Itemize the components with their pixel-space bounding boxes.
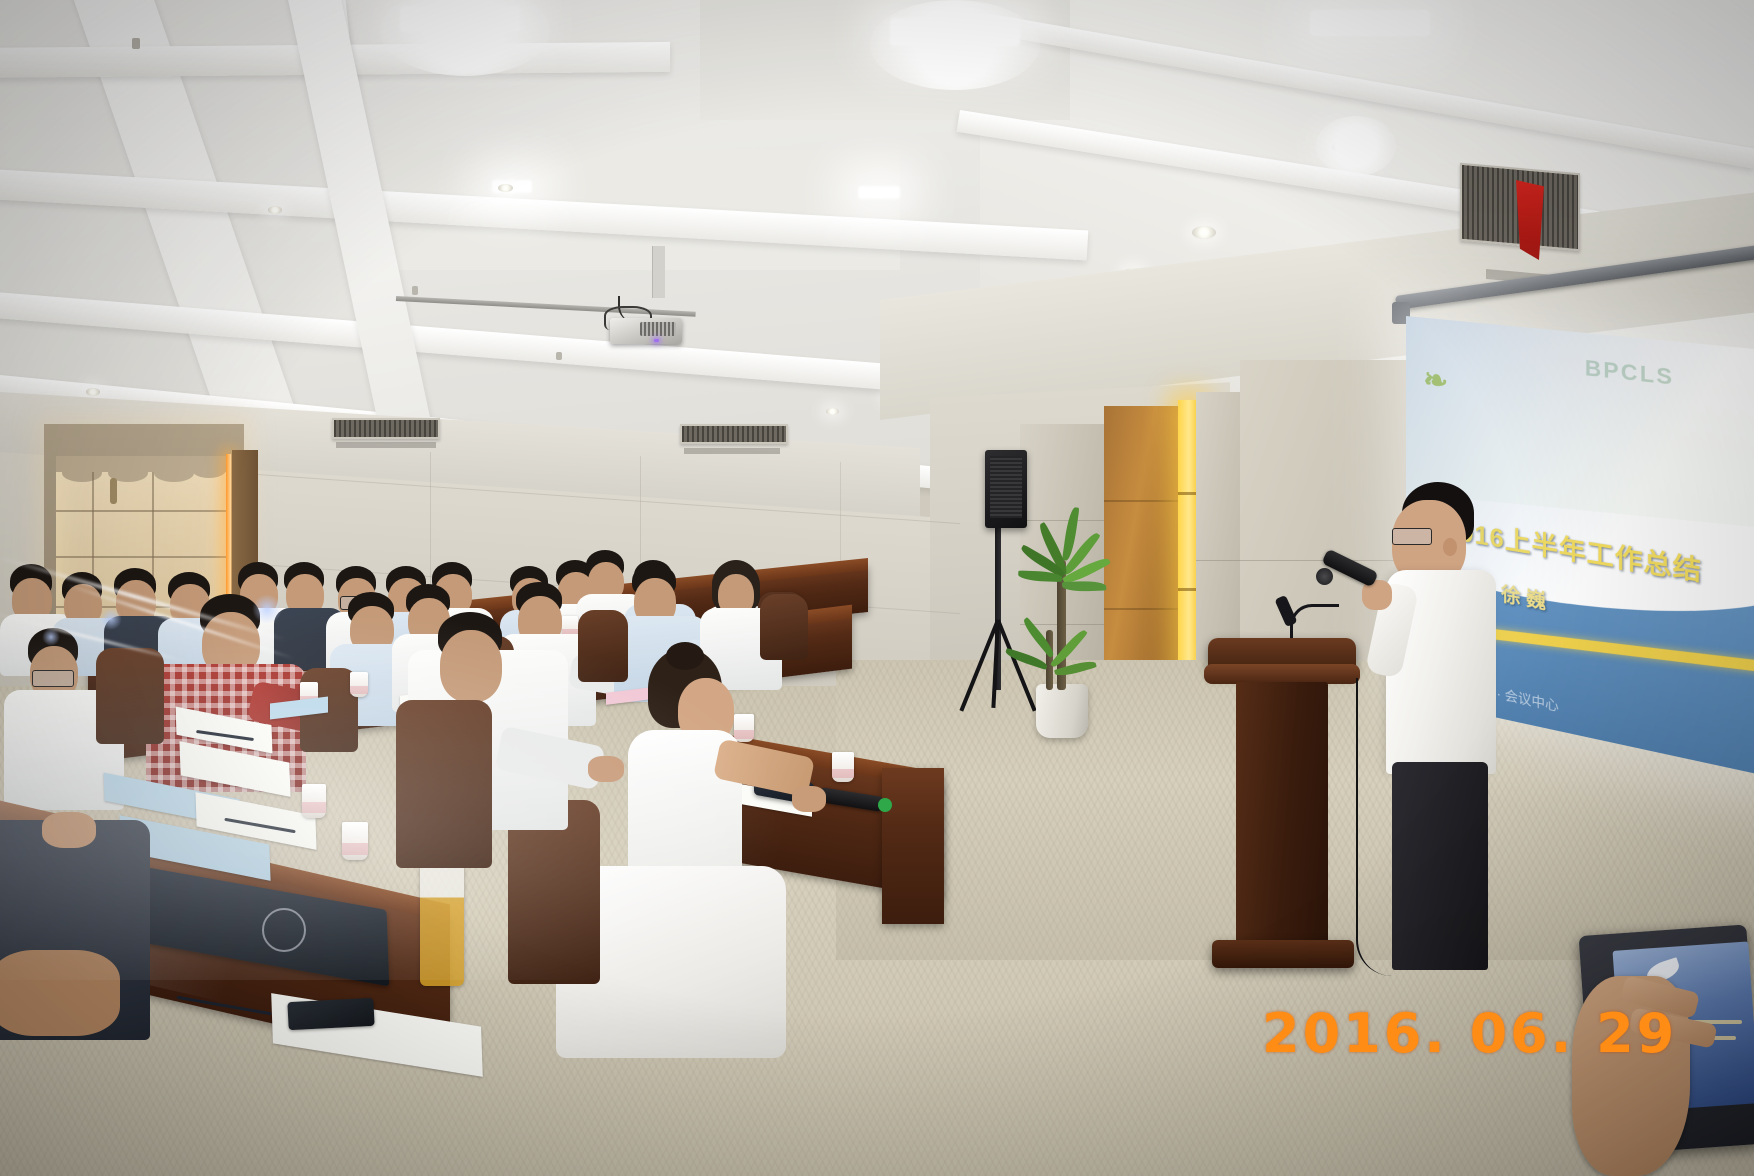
camera-date-stamp: 2016. 06. 29 (1262, 1002, 1677, 1065)
window-tassel (110, 478, 117, 504)
pa-speaker-grille (990, 456, 1022, 518)
window-mullion-h2 (56, 556, 228, 558)
paper-cup-fg-2 (342, 822, 368, 860)
chair-middle-5[interactable] (760, 594, 808, 660)
folder-logo-icon (262, 908, 306, 952)
paper-cup-fg-1 (302, 784, 326, 818)
window-valance-scallop-4 (192, 462, 226, 478)
woman-hand (792, 786, 826, 812)
downlight-glow-3 (870, 0, 1040, 90)
chair-middle-4[interactable] (578, 610, 628, 682)
paper-cup-front-1 (734, 714, 754, 742)
wall-vent-1 (332, 418, 440, 439)
projector-indicator-icon (654, 339, 659, 342)
downlight-9 (826, 408, 839, 415)
downlight-2 (1192, 226, 1216, 239)
pillar-stone-seam-1 (1020, 520, 1112, 521)
chair-fg-left2[interactable] (396, 700, 492, 868)
downlight-10 (268, 206, 282, 214)
presenter-mic-grille-icon (1316, 568, 1333, 585)
window-mullion-h1 (56, 510, 228, 512)
podium-column (1236, 682, 1328, 950)
sprinkler-head-3-icon (556, 352, 562, 360)
wall-vent-2 (680, 424, 788, 444)
cup-band (734, 730, 754, 739)
podium-lip (1204, 664, 1360, 684)
sprinkler-head-2-icon (412, 286, 418, 295)
window-valance-scallop-1 (62, 464, 102, 482)
presenter-ear (1443, 538, 1457, 556)
presenter-glasses-icon (1392, 528, 1432, 545)
conference-room-photo: ❧ BPCLS 2016上半年工作总结 徐 巍 武汉 · 会议中心 (0, 0, 1754, 1176)
podium-base (1212, 940, 1354, 968)
attendee-fg-left-hand (42, 812, 96, 848)
window-valance-scallop-3 (154, 464, 194, 482)
downlight-11 (498, 184, 513, 192)
attendee-m1-glasses-icon (32, 670, 74, 687)
plant-pot (1036, 684, 1088, 738)
projector-mount (652, 246, 665, 298)
attendee-fg-left-arm (0, 950, 120, 1036)
paper-cup-front-2 (832, 752, 854, 782)
ceiling-light-panel-5 (858, 186, 900, 199)
slide-logo-icon: ❧ (1423, 362, 1448, 400)
cup-band (832, 769, 854, 779)
microphone-cable (1356, 678, 1392, 976)
wall-vent-slot-2 (684, 448, 780, 454)
tea-tumbler (420, 852, 464, 986)
cup-band (342, 843, 368, 855)
ceiling-light-panel-3 (1310, 10, 1430, 36)
woman-hair-bun-knot (666, 642, 704, 670)
paper-cup-mid-2 (350, 672, 368, 697)
microphone-tip-icon (878, 798, 892, 812)
downlight-glow-1 (1316, 116, 1396, 176)
wall-vent-slot-1 (336, 442, 436, 448)
downlight-12 (86, 388, 100, 396)
attendee-fg-left2-head (440, 630, 502, 702)
smartphone-on-table[interactable] (287, 998, 374, 1030)
chair-middle-1[interactable] (96, 648, 164, 744)
attendee-fg-left2-hand (588, 756, 624, 782)
cup-band (350, 686, 368, 694)
cup-band (302, 802, 326, 813)
sprinkler-head-icon (132, 38, 140, 49)
projector-lens (640, 322, 676, 336)
presenter-trousers (1392, 762, 1488, 970)
desk-front-right-side (882, 768, 944, 924)
